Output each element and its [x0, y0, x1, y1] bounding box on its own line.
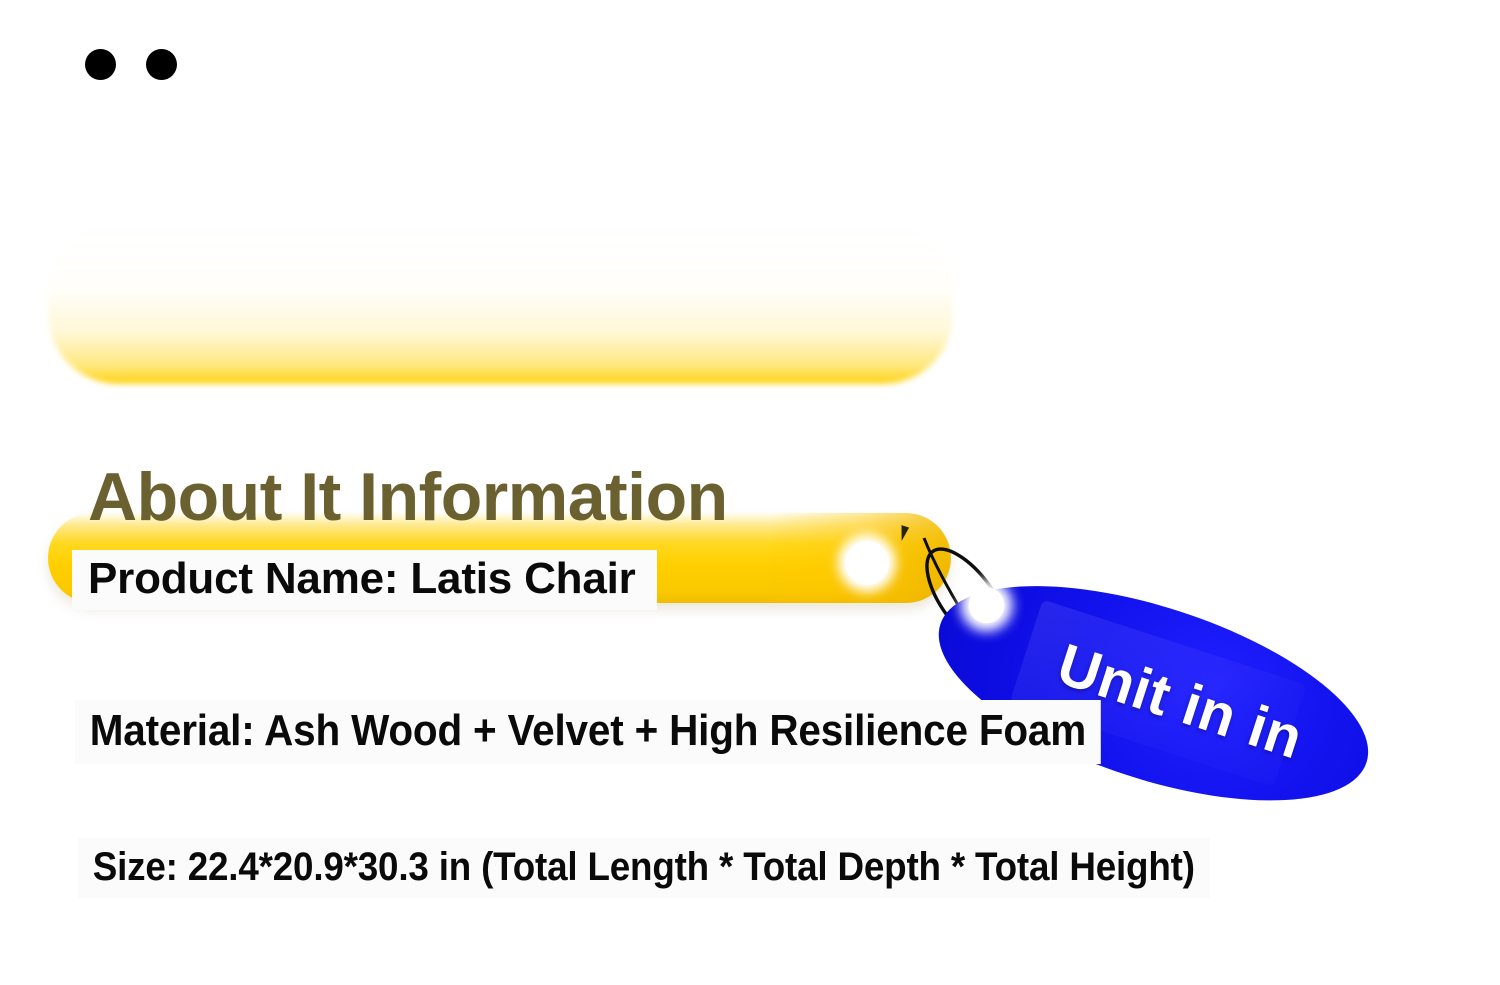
dot-two-icon [146, 49, 177, 80]
header-dots [85, 49, 195, 83]
spec-size: Size: 22.4*20.9*30.3 in (Total Length * … [78, 838, 1209, 898]
unit-tag: Unit in in [914, 542, 1393, 844]
tag-label: Unit in in [914, 542, 1393, 844]
spec-product-name: Product Name: Latis Chair [72, 550, 657, 610]
banner-glow [48, 224, 953, 384]
page-title: About It Information [88, 463, 728, 531]
dot-one-icon [85, 49, 116, 80]
page-canvas: About It Information Unit in in Product … [0, 0, 1500, 985]
pill-hole-icon [845, 541, 889, 585]
spec-material: Material: Ash Wood + Velvet + High Resil… [75, 700, 1101, 764]
